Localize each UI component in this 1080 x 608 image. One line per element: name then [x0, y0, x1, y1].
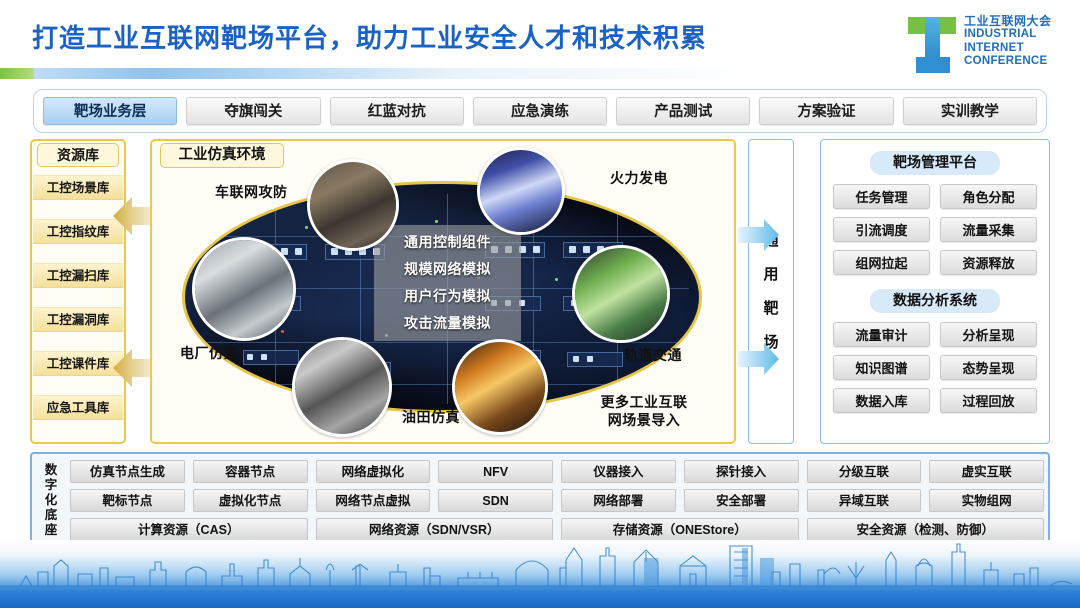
business-chip-1[interactable]: 夺旗闯关 — [186, 97, 320, 125]
arrow-right-lower-icon — [738, 342, 780, 376]
business-chip-2[interactable]: 红蓝对抗 — [330, 97, 464, 125]
base-row-0: 仿真节点生成 容器节点 网络虚拟化 NFV 仪器接入 探针接入 分级互联 虚实互… — [70, 460, 1044, 483]
resource-item-2[interactable]: 工控漏扫库 — [33, 263, 123, 288]
base-chip-2-1[interactable]: 网络资源（SDN/VSR） — [316, 518, 554, 541]
logo-mark-icon — [908, 17, 956, 73]
analysis-chip-0[interactable]: 流量审计 — [833, 322, 930, 347]
mgmt-chip-3[interactable]: 流量采集 — [940, 217, 1037, 242]
header-divider-accent — [0, 68, 34, 79]
industrial-simulation-panel: 网大会 通用控制组件 规模网络模拟 用户行为模拟 攻击流量模拟 车联网攻防 火力… — [150, 139, 736, 444]
scene-label-oilfield: 油田仿真 — [402, 408, 460, 426]
business-chip-6[interactable]: 实训教学 — [903, 97, 1037, 125]
base-chip-0-7[interactable]: 虚实互联 — [929, 460, 1044, 483]
base-row-1: 靶标节点 虚拟化节点 网络节点虚拟 SDN 网络部署 安全部署 异域互联 实物组… — [70, 489, 1044, 512]
footer-cityscape — [0, 540, 1080, 608]
analysis-chip-4[interactable]: 数据入库 — [833, 388, 930, 413]
base-label-char-4: 座 — [45, 523, 58, 538]
scene-photo-oilfield — [292, 337, 392, 437]
capability-1: 规模网络模拟 — [404, 256, 491, 283]
resource-library-list: 工控场景库 工控指纹库 工控漏扫库 工控漏洞库 工控课件库 应急工具库 — [33, 175, 123, 439]
data-analysis-grid: 流量审计 分析呈现 知识图谱 态势呈现 数据入库 过程回放 — [833, 322, 1037, 413]
analysis-chip-5[interactable]: 过程回放 — [940, 388, 1037, 413]
resource-library-title: 资源库 — [37, 143, 119, 167]
base-chip-0-6[interactable]: 分级互联 — [807, 460, 922, 483]
base-chip-2-3[interactable]: 安全资源（检测、防御） — [807, 518, 1045, 541]
general-range-column: 通 用 靶 场 — [748, 139, 794, 444]
base-chip-1-1[interactable]: 虚拟化节点 — [193, 489, 308, 512]
logo-text: 工业互联网大会 INDUSTRIAL INTERNET CONFERENCE — [964, 14, 1052, 69]
business-layer-row: 靶场业务层 夺旗闯关 红蓝对抗 应急演练 产品测试 方案验证 实训教学 — [33, 89, 1047, 133]
base-chip-1-4[interactable]: 网络部署 — [561, 489, 676, 512]
resource-item-3[interactable]: 工控漏洞库 — [33, 307, 123, 332]
base-chip-0-4[interactable]: 仪器接入 — [561, 460, 676, 483]
scene-label-thermal-power: 火力发电 — [610, 169, 668, 187]
base-chip-1-2[interactable]: 网络节点虚拟 — [316, 489, 431, 512]
logo-title-en-1: INDUSTRIAL — [964, 28, 1052, 42]
cityscape-icon — [0, 540, 1080, 608]
mgmt-chip-0[interactable]: 任务管理 — [833, 184, 930, 209]
base-chip-1-7[interactable]: 实物组网 — [929, 489, 1044, 512]
base-chip-1-5[interactable]: 安全部署 — [684, 489, 799, 512]
base-chip-1-6[interactable]: 异域互联 — [807, 489, 922, 512]
business-chip-0[interactable]: 靶场业务层 — [43, 97, 177, 125]
business-chip-5[interactable]: 方案验证 — [759, 97, 893, 125]
scene-photo-connected-vehicle — [307, 159, 399, 251]
business-chip-4[interactable]: 产品测试 — [616, 97, 750, 125]
business-chip-3[interactable]: 应急演练 — [473, 97, 607, 125]
resource-item-1[interactable]: 工控指纹库 — [33, 219, 123, 244]
capability-2: 用户行为模拟 — [404, 283, 491, 310]
base-chip-2-2[interactable]: 存储资源（ONEStore） — [561, 518, 799, 541]
resource-item-0[interactable]: 工控场景库 — [33, 175, 123, 200]
resource-item-4[interactable]: 工控课件库 — [33, 351, 123, 376]
base-chip-0-2[interactable]: 网络虚拟化 — [316, 460, 431, 483]
mgmt-chip-2[interactable]: 引流调度 — [833, 217, 930, 242]
digital-base-panel: 数 字 化 底 座 仿真节点生成 容器节点 网络虚拟化 NFV 仪器接入 探针接… — [30, 452, 1050, 546]
range-char-1: 用 — [763, 258, 778, 292]
simulation-capability-list: 通用控制组件 规模网络模拟 用户行为模拟 攻击流量模拟 — [374, 225, 521, 341]
base-row-2: 计算资源（CAS） 网络资源（SDN/VSR） 存储资源（ONEStore） 安… — [70, 518, 1044, 541]
logo-title-en-3: CONFERENCE — [964, 55, 1052, 69]
base-label-char-3: 底 — [45, 508, 58, 523]
conference-logo: 工业互联网大会 INDUSTRIAL INTERNET CONFERENCE — [908, 14, 1068, 76]
arrow-right-upper-icon — [738, 218, 780, 252]
base-label-char-0: 数 — [45, 463, 58, 478]
base-chip-0-0[interactable]: 仿真节点生成 — [70, 460, 185, 483]
mgmt-chip-4[interactable]: 组网拉起 — [833, 250, 930, 275]
base-chip-0-3[interactable]: NFV — [438, 460, 553, 483]
scene-photo-rail-transit — [572, 245, 670, 343]
scene-photo-more-scenarios — [452, 339, 548, 435]
base-chip-1-0[interactable]: 靶标节点 — [70, 489, 185, 512]
analysis-chip-2[interactable]: 知识图谱 — [833, 355, 930, 380]
scene-photo-thermal-power — [477, 147, 565, 235]
capability-0: 通用控制组件 — [404, 229, 491, 256]
page-header: 打造工业互联网靶场平台，助力工业安全人才和技术积累 工业互联网大会 INDUST… — [0, 0, 1080, 86]
base-label-char-1: 字 — [45, 478, 58, 493]
scene-label-more-scenarios: 更多工业互联网场景导入 — [600, 393, 688, 429]
base-chip-1-3[interactable]: SDN — [438, 489, 553, 512]
logo-title-cn: 工业互联网大会 — [964, 14, 1052, 28]
scene-photo-power-plant — [192, 237, 296, 341]
analysis-chip-3[interactable]: 态势呈现 — [940, 355, 1037, 380]
page-title: 打造工业互联网靶场平台，助力工业安全人才和技术积累 — [32, 18, 707, 55]
scene-label-connected-vehicle: 车联网攻防 — [215, 183, 288, 201]
data-analysis-title: 数据分析系统 — [870, 289, 1000, 313]
scene-label-rail-transit: 轨道交通 — [624, 346, 682, 364]
scene-label-power-plant: 电厂仿真 — [180, 344, 238, 362]
range-char-2: 靶 — [763, 292, 778, 326]
base-label-char-2: 化 — [45, 493, 58, 508]
resource-item-5[interactable]: 应急工具库 — [33, 395, 123, 420]
base-chip-0-1[interactable]: 容器节点 — [193, 460, 308, 483]
analysis-chip-1[interactable]: 分析呈现 — [940, 322, 1037, 347]
digital-base-rows: 仿真节点生成 容器节点 网络虚拟化 NFV 仪器接入 探针接入 分级互联 虚实互… — [70, 460, 1044, 547]
logo-title-en-2: INTERNET — [964, 42, 1052, 56]
base-chip-2-0[interactable]: 计算资源（CAS） — [70, 518, 308, 541]
range-management-grid: 任务管理 角色分配 引流调度 流量采集 组网拉起 资源释放 — [833, 184, 1037, 275]
capability-3: 攻击流量模拟 — [404, 310, 491, 337]
base-chip-0-5[interactable]: 探针接入 — [684, 460, 799, 483]
range-management-title: 靶场管理平台 — [870, 151, 1000, 175]
mgmt-chip-1[interactable]: 角色分配 — [940, 184, 1037, 209]
industrial-simulation-title: 工业仿真环境 — [160, 143, 284, 168]
mgmt-chip-5[interactable]: 资源释放 — [940, 250, 1037, 275]
right-systems-panel: 靶场管理平台 任务管理 角色分配 引流调度 流量采集 组网拉起 资源释放 数据分… — [820, 139, 1050, 444]
digital-base-label: 数 字 化 底 座 — [38, 459, 64, 541]
